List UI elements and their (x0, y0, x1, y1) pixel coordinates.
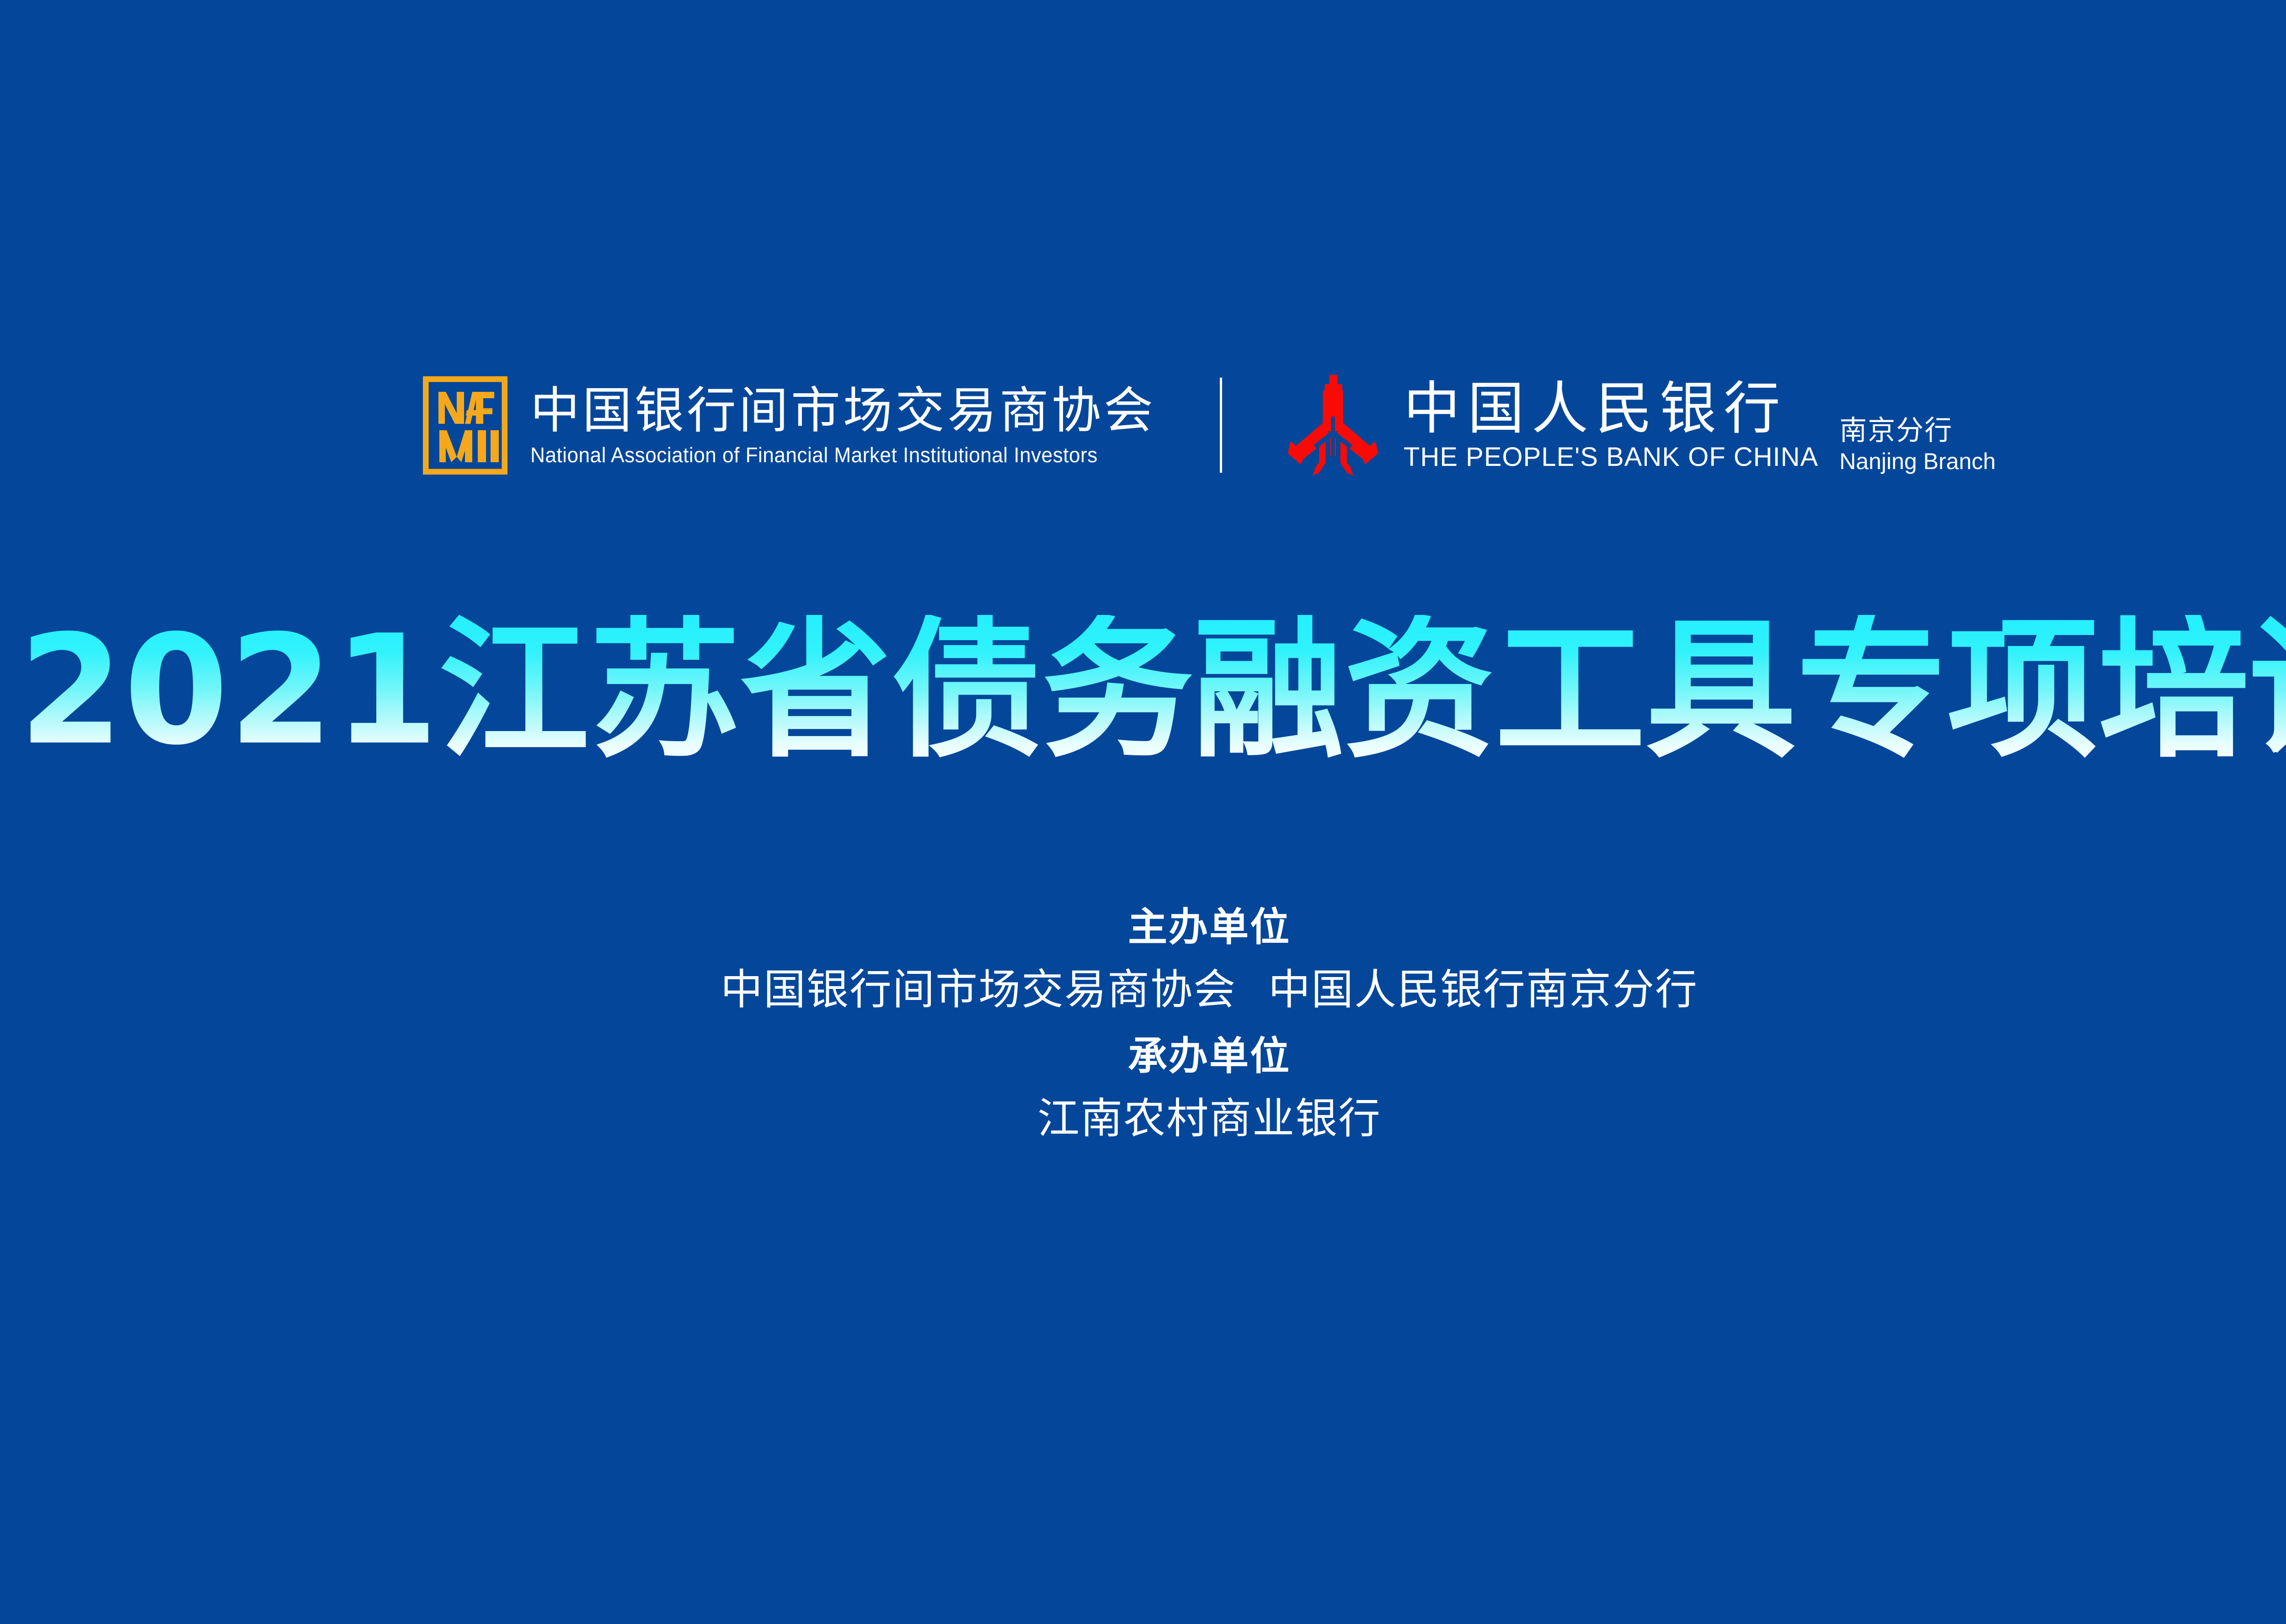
pboc-name-en: THE PEOPLE'S BANK OF CHINA (1404, 443, 1818, 471)
pboc-wordmark: 中国人民银行 THE PEOPLE'S BANK OF CHINA (1404, 379, 1818, 471)
nafmii-name-en: National Association of Financial Market… (530, 444, 1131, 466)
page-title: 2021江苏省债务融资工具专项培训 (0, 615, 2286, 766)
host-label: 主办单位 (0, 908, 2286, 947)
pboc-name-cn: 中国人民银行 (1404, 379, 1818, 438)
host-org-1: 中国银行间市场交易商协会 (721, 965, 1236, 1014)
host-org-2: 中国人民银行南京分行 (1268, 965, 1698, 1014)
organizer-label: 承办单位 (0, 1036, 2286, 1076)
sponsor-block: 主办单位 中国银行间市场交易商协会中国人民银行南京分行 承办单位 江南农村商业银… (0, 908, 2286, 1140)
pboc-branch: 南京分行 Nanjing Branch (1839, 416, 1996, 478)
pboc-emblem-icon (1286, 372, 1380, 478)
pboc-branch-cn: 南京分行 (1839, 416, 1996, 446)
nafmii-logo: 中国银行间市场交易商协会 National Association of Fin… (423, 376, 1156, 475)
logo-bar: 中国银行间市场交易商协会 National Association of Fin… (0, 361, 2286, 489)
organizer-organization: 江南农村商业银行 (0, 1098, 2286, 1140)
nafmii-name-cn: 中国银行间市场交易商协会 (530, 384, 1156, 438)
logo-group: 中国银行间市场交易商协会 National Association of Fin… (423, 372, 1996, 478)
logo-divider (1220, 378, 1222, 473)
presentation-title-slide: 中国银行间市场交易商协会 National Association of Fin… (0, 0, 2286, 1624)
pboc-logo: 中国人民银行 THE PEOPLE'S BANK OF CHINA 南京分行 N… (1286, 372, 1996, 478)
host-organizations: 中国银行间市场交易商协会中国人民银行南京分行 (0, 969, 2286, 1011)
spacer-2 (0, 1011, 2286, 1036)
pboc-branch-en: Nanjing Branch (1839, 449, 1996, 474)
nafmii-logo-mark (423, 376, 507, 475)
nafmii-wordmark: 中国银行间市场交易商协会 National Association of Fin… (530, 384, 1156, 466)
